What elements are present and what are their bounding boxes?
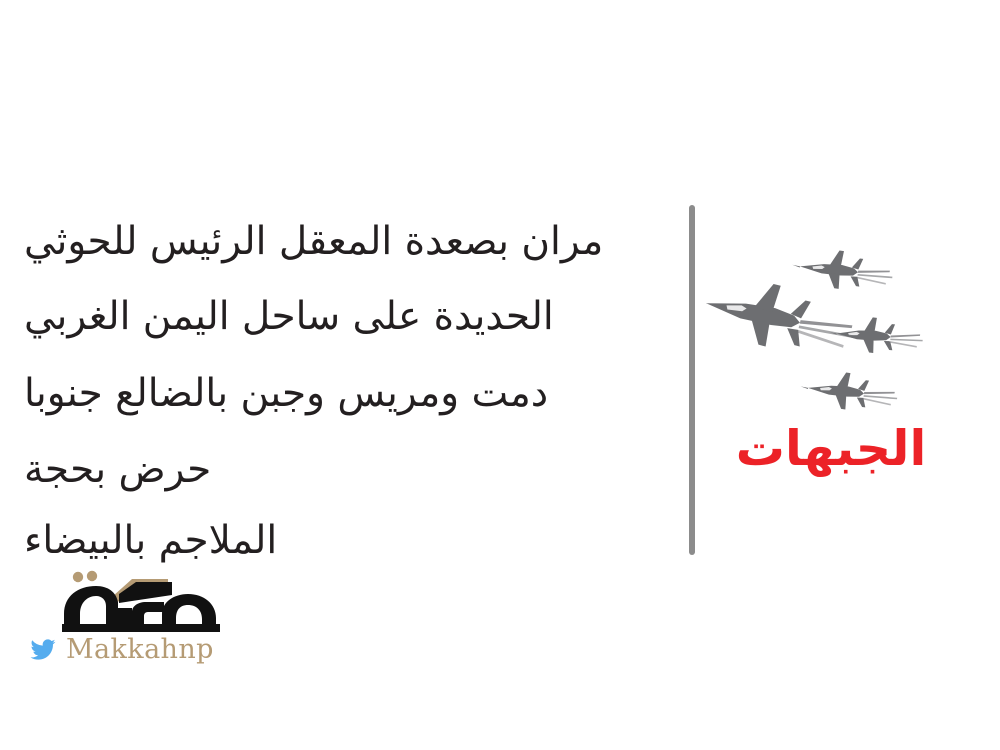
timeline-item-label: الملاجم بالبيضاء (24, 519, 654, 563)
handle-label: Makkahnp (66, 636, 214, 663)
twitter-handle[interactable]: Makkahnp (28, 636, 226, 663)
twitter-bird-icon (28, 637, 58, 662)
brand-logo: Makkahnp (28, 562, 228, 672)
timeline-item-label: الحديدة على ساحل اليمن الغربي (24, 295, 654, 339)
fighter-jets-icon (706, 248, 956, 428)
timeline-item-label: حرض بحجة (24, 448, 654, 492)
timeline-item-label: مران بصعدة المعقل الرئيس للحوثي (24, 220, 654, 264)
infographic-canvas: مران بصعدة المعقل الرئيس للحوثي الحديدة … (0, 0, 1000, 750)
page-title: الجبهات (700, 424, 962, 473)
makkah-wordmark-icon (56, 562, 228, 634)
timeline-item-label: دمت ومريس وجبن بالضالع جنوبا (24, 372, 654, 416)
